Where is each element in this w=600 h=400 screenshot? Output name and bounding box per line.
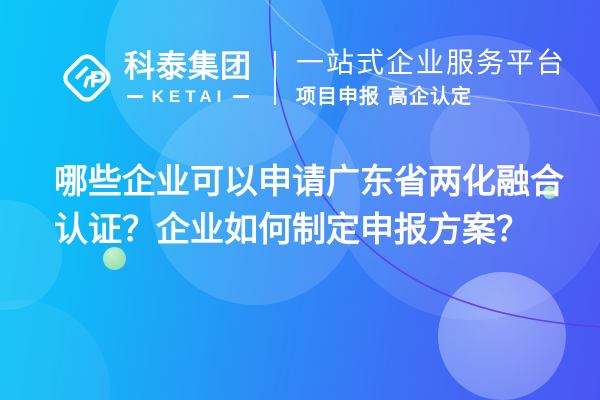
rule-left: [127, 95, 143, 98]
brand-name-en: KETAI: [152, 88, 227, 105]
brand-name-cn: 科泰集团: [124, 52, 252, 83]
brand-lockup: 科泰集团 KETAI: [58, 49, 252, 107]
ketai-diamond-monogram-icon: [58, 49, 116, 107]
rule-right: [233, 95, 249, 98]
tagline-primary: 一站式企业服务平台: [296, 48, 566, 78]
page-title-line-1: 哪些企业可以申请广东省两化融合: [54, 158, 564, 206]
promotional-banner: 科泰集团 KETAI 一站式企业服务平台 项目申报 高企认定 哪些企业可以申请广…: [0, 0, 600, 400]
brand-wordmark: 科泰集团 KETAI: [124, 52, 252, 105]
brand-name-en-row: KETAI: [124, 88, 252, 105]
tagline-services: 项目申报 高企认定: [296, 84, 566, 108]
page-title-line-2: 认证？企业如何制定申报方案？: [54, 206, 564, 254]
header-taglines: 一站式企业服务平台 项目申报 高企认定: [296, 48, 566, 108]
vertical-divider: [274, 51, 276, 105]
page-title: 哪些企业可以申请广东省两化融合 认证？企业如何制定申报方案？: [54, 158, 564, 254]
banner-header: 科泰集团 KETAI 一站式企业服务平台 项目申报 高企认定: [0, 40, 600, 116]
